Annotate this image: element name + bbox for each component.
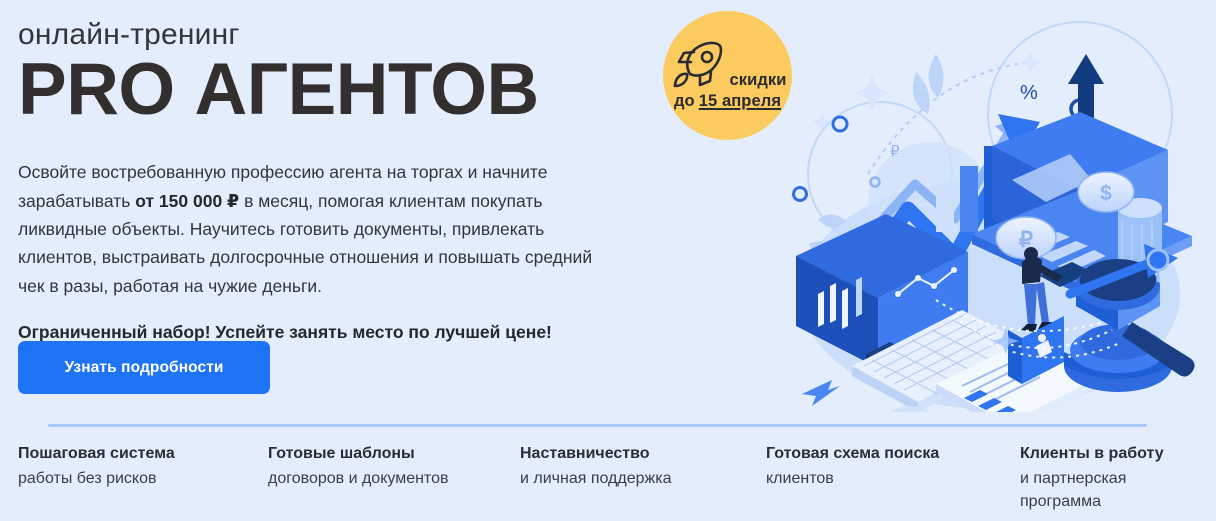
discount-badge-word: скидки	[729, 72, 786, 89]
discount-badge-date: 15 апреля	[699, 92, 781, 111]
feature-item-1: Пошаговая система работы без рисков	[18, 442, 248, 490]
discount-badge-top-row: скидки	[670, 40, 786, 89]
feature-title: Наставничество	[520, 442, 750, 465]
feature-item-4: Готовая схема поиска клиентов	[766, 442, 996, 490]
section-divider	[48, 424, 1147, 427]
svg-text:₽: ₽	[1019, 227, 1033, 252]
feature-subtitle: и партнерская программа	[1020, 467, 1205, 513]
feature-title: Клиенты в работу	[1020, 442, 1205, 465]
feature-list: Пошаговая система работы без рисков Гото…	[0, 442, 1216, 521]
feature-subtitle: договоров и документов	[268, 467, 508, 490]
rocket-icon	[670, 40, 726, 90]
feature-title: Готовая схема поиска	[766, 442, 996, 465]
svg-text:%: %	[1020, 82, 1038, 104]
hero-income-highlight: от 150 000 ₽	[135, 191, 239, 211]
hero-description: Освойте востребованную профессию агента …	[18, 158, 618, 300]
feature-subtitle: работы без рисков	[18, 467, 248, 490]
learn-more-button[interactable]: Узнать подробности	[18, 341, 270, 394]
landing-hero-page: % ₽	[0, 0, 1216, 521]
feature-subtitle: клиентов	[766, 467, 996, 490]
discount-badge-until: до	[674, 92, 695, 111]
feature-title: Готовые шаблоны	[268, 442, 508, 465]
discount-badge-deadline: до 15 апреля	[674, 92, 781, 111]
svg-text:$: $	[1100, 182, 1112, 205]
isometric-business-auction-illustration: % ₽	[740, 0, 1216, 412]
page-title: PRO АГЕНТОВ	[18, 53, 658, 127]
feature-title: Пошаговая система	[18, 442, 248, 465]
svg-text:₽: ₽	[890, 143, 900, 160]
feature-item-5: Клиенты в работу и партнерская программа	[1020, 442, 1205, 514]
feature-subtitle: и личная поддержка	[520, 467, 750, 490]
feature-item-3: Наставничество и личная поддержка	[520, 442, 750, 490]
feature-item-2: Готовые шаблоны договоров и документов	[268, 442, 508, 490]
discount-badge[interactable]: скидки до 15 апреля	[663, 11, 792, 140]
hero-copy: онлайн-тренинг PRO АГЕНТОВ Освойте востр…	[18, 18, 658, 345]
hero-eyebrow: онлайн-тренинг	[18, 18, 658, 51]
